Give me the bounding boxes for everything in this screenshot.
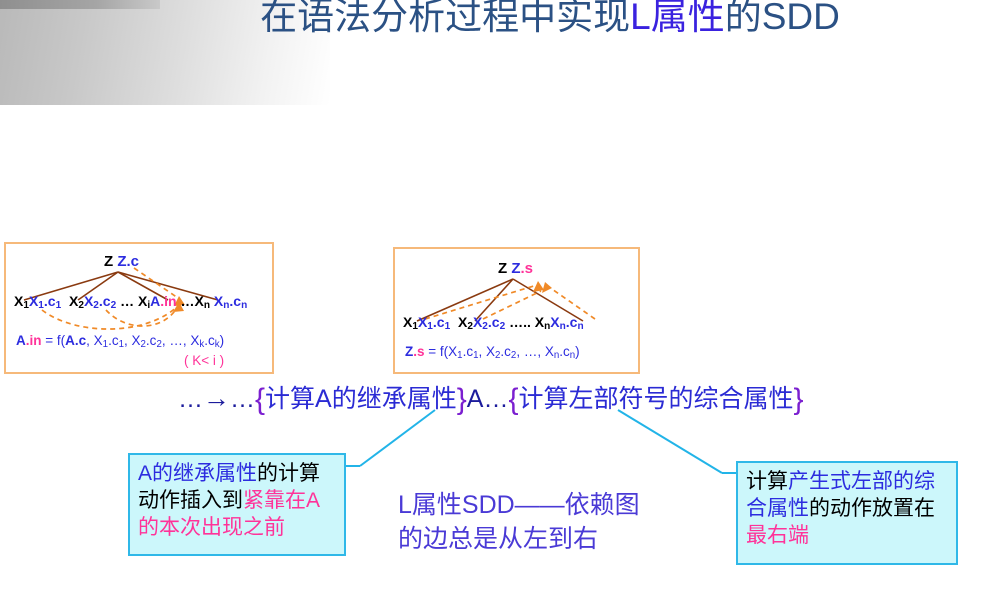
callout-right-black-text-2: 的动作放置在 [809,497,935,520]
callout-left-blue-text: A的继承属性 [138,462,257,485]
left-leaf-3-symbol: Xi [138,293,150,309]
production-arrow-icon: → [203,383,230,413]
slide-canvas: 在语法分析过程中实现L属性的SDD Z Z.c [0,0,997,601]
production-nonterminal: A [467,385,484,413]
right-root-attr-tail: .s [521,260,534,277]
right-root-label: Z Z.s [498,261,533,276]
callout-right-black-text-1: 计算 [746,470,788,493]
synthesized-attribute-diagram: Z Z.s X1X1.c1 X2X2.c2 ….. XnXn.cn Z.s = … [393,247,640,374]
callout-right-pink-text: 最右端 [746,524,809,547]
inherited-attribute-diagram: Z Z.c X1X1.c1 X2X2.c2 … XiA.in …Xn Xn.cn… [4,242,274,374]
left-formula-lhs: A [16,333,26,348]
page-title: 在语法分析过程中实现L属性的SDD [120,0,980,40]
right-ellipsis-mid: ….. [509,314,531,330]
production-rule-line: …→…{计算A的继承属性}A…{计算左部符号的综合属性} [178,379,878,417]
left-condition: ( K< i ) [184,354,224,368]
title-part-1: 在语法分析过程中实现 [260,0,630,37]
production-dots-2: … [483,385,508,413]
right-leaf-3-symbol: Xn [535,314,551,330]
right-leaf-2-symbol: X2 [458,314,473,330]
callout-synthesized-attribute: 计算产生式左部的综合属性的动作放置在最右端 [736,461,958,565]
right-root-attr: Z [511,260,520,277]
left-formula: A.in = f(A.c, X1.c1, X2.c2, …, Xk.ck) [16,334,224,350]
production-action-2: 计算左部符号的综合属性 [518,385,793,413]
left-leaf-1-attr: X1.c1 [29,293,61,309]
left-leaf-4-symbol: Xn [194,293,210,309]
left-leaf-row: X1X1.c1 X2X2.c2 … XiA.in …Xn Xn.cn [14,294,247,311]
right-formula: Z.s = f(X1.c1, X2.c2, …, Xn.cn) [405,345,580,361]
production-open-brace-1: { [255,383,265,416]
left-formula-lhs-tail: .in [26,333,42,348]
center-note: L属性SDD——依赖图 的边总是从左到右 [398,489,688,557]
left-leaf-2-symbol: X2 [69,293,84,309]
title-part-2: 的SDD [725,0,840,37]
production-action-1: 计算A的继承属性 [265,385,457,413]
right-formula-lhs-tail: .s [413,344,424,359]
callout-inherited-attribute: A的继承属性的计算动作插入到紧靠在A的本次出现之前 [128,453,346,556]
left-leaf-2-attr: X2.c2 [84,293,116,309]
left-formula-body: = f(A.c, X1.c1, X2.c2, …, Xk.ck) [42,333,225,348]
left-root-label: Z Z.c [104,254,139,269]
right-formula-lhs: Z [405,344,413,359]
right-leaf-1-symbol: X1 [403,314,418,330]
production-close-brace-2: } [793,383,803,416]
right-leaf-3-attr: Xn.cn [550,314,583,330]
production-lead: … [178,385,203,413]
production-open-brace-2: { [508,383,518,416]
right-leaf-1-attr: X1.c1 [418,314,450,330]
left-leaf-3-attr-tail: .in [160,293,176,309]
left-ellipsis-last: … [180,293,194,309]
right-formula-body: = f(X1.c1, X2.c2, …, Xn.cn) [425,344,580,359]
left-leaf-4-attr: Xn.cn [214,293,247,309]
right-leaf-row: X1X1.c1 X2X2.c2 ….. XnXn.cn [403,315,584,332]
production-dots-1: … [230,385,255,413]
production-close-brace-1: } [457,383,467,416]
right-leaf-2-attr: X2.c2 [473,314,505,330]
left-ellipsis-mid: … [120,293,134,309]
center-note-line-2: 的边总是从左到右 [398,523,688,557]
left-leaf-3-attr: A [150,293,160,309]
title-highlight: L属性 [630,0,725,37]
left-leaf-1-symbol: X1 [14,293,29,309]
center-note-line-1: L属性SDD——依赖图 [398,489,688,523]
